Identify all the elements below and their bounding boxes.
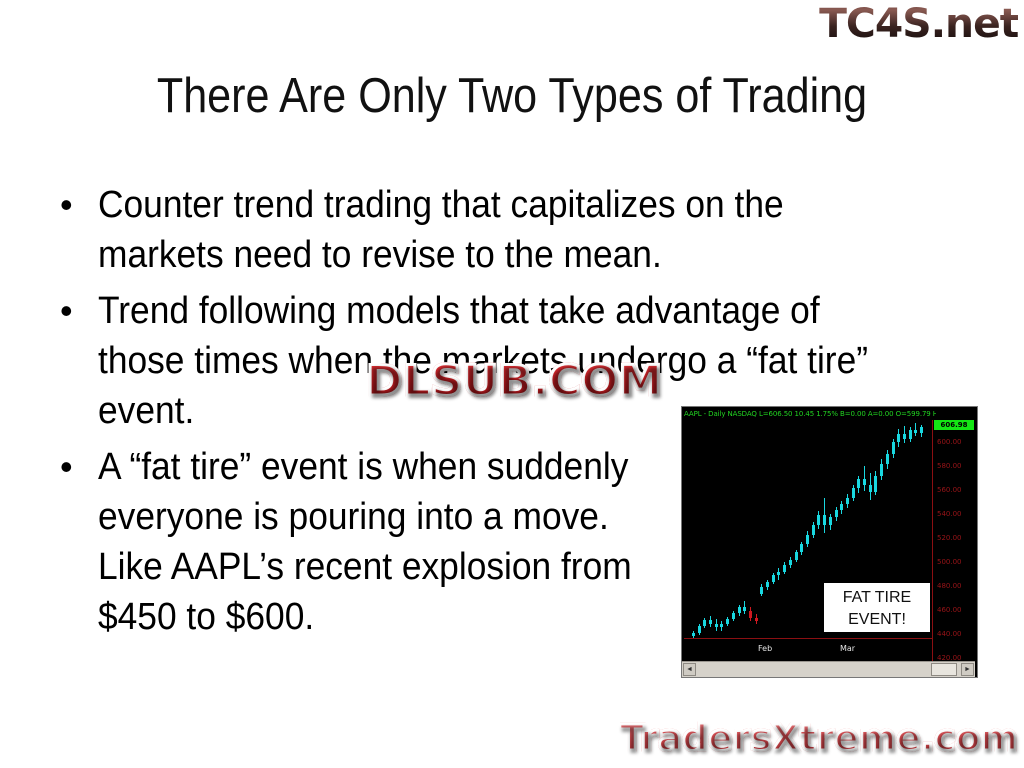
candle-body [760, 587, 763, 594]
time-axis: FebMar [684, 638, 932, 661]
candle-body [800, 544, 803, 552]
candle-body [709, 620, 712, 623]
candle-body [749, 611, 752, 618]
candle-body [692, 633, 695, 636]
brand-logo-bottom-right: TradersXtreme.com [620, 718, 1018, 760]
list-item: • Counter trend trading that capitalizes… [52, 180, 977, 280]
candle-body [829, 517, 832, 525]
candle-body [886, 454, 889, 464]
candle-body [743, 607, 746, 610]
price-axis-tick: 560.00 [937, 486, 962, 494]
candle-body [846, 498, 849, 505]
price-axis-tick: 600.00 [937, 438, 962, 446]
candle-body [789, 560, 792, 565]
candle-body [840, 504, 843, 510]
price-axis-tick: 440.00 [937, 630, 962, 638]
candle-body [903, 434, 906, 439]
candle-body [852, 488, 855, 497]
callout-line-1: FAT TIRE [824, 587, 930, 609]
candle-body [772, 575, 775, 582]
bullet-marker-icon: • [52, 286, 98, 336]
scroll-left-arrow-icon[interactable]: ◄ [683, 663, 696, 676]
candle-body [698, 626, 701, 633]
candle-body [715, 624, 718, 627]
candle-body [857, 479, 860, 488]
candle-body [703, 620, 706, 626]
page-title: There Are Only Two Types of Trading [61, 68, 962, 124]
candle-body [812, 525, 815, 534]
candle-body [863, 479, 866, 485]
candle-body [823, 515, 826, 525]
price-axis-tick: 460.00 [937, 606, 962, 614]
list-item-text: A “fat tire” event is when suddenly ever… [98, 442, 656, 642]
time-axis-tick: Mar [840, 644, 855, 654]
candle-body [909, 430, 912, 438]
time-axis-tick: Feb [758, 644, 772, 654]
candle-body [777, 572, 780, 575]
fat-tire-event-callout: FAT TIRE EVENT! [823, 582, 931, 633]
candle-body [920, 427, 923, 433]
stock-chart-window[interactable]: AAPL - Daily NASDAQ L=606.50 10.45 1.75%… [681, 406, 978, 678]
price-axis-tick: 540.00 [937, 510, 962, 518]
price-axis: 606.98 600.00580.00560.00540.00520.00500… [932, 420, 977, 678]
brand-logo-top-right: TC4S.net [819, 2, 1018, 46]
chart-quote-bar: AAPL - Daily NASDAQ L=606.50 10.45 1.75%… [684, 408, 936, 420]
candle-body [755, 618, 758, 621]
candle-body [738, 607, 741, 613]
callout-line-2: EVENT! [824, 609, 930, 631]
candle-body [835, 510, 838, 517]
candle-body [806, 535, 809, 544]
candle-body [783, 565, 786, 572]
candle-body [869, 485, 872, 492]
candle-body [892, 442, 895, 454]
candle-body [817, 515, 820, 525]
candle-body [720, 624, 723, 627]
chart-horizontal-scrollbar[interactable]: ◄ ► [682, 661, 975, 677]
candle-body [766, 582, 769, 587]
watermark-dlsub: DLSUB.COM [366, 358, 662, 404]
candle-body [726, 619, 729, 624]
candle-body [880, 464, 883, 476]
candle-body [732, 613, 735, 619]
list-item-text: Counter trend trading that capitalizes o… [98, 180, 915, 280]
scrollbar-thumb[interactable] [931, 663, 957, 676]
bullet-marker-icon: • [52, 442, 98, 492]
candle-body [897, 434, 900, 442]
current-price-marker: 606.98 [934, 420, 974, 430]
price-axis-tick: 520.00 [937, 534, 962, 542]
candle-body [914, 430, 917, 432]
candle-body [795, 552, 798, 560]
candle-body [874, 476, 877, 492]
price-axis-tick: 480.00 [937, 582, 962, 590]
price-axis-tick: 580.00 [937, 462, 962, 470]
price-axis-tick: 500.00 [937, 558, 962, 566]
bullet-marker-icon: • [52, 180, 98, 230]
scroll-right-arrow-icon[interactable]: ► [961, 663, 974, 676]
